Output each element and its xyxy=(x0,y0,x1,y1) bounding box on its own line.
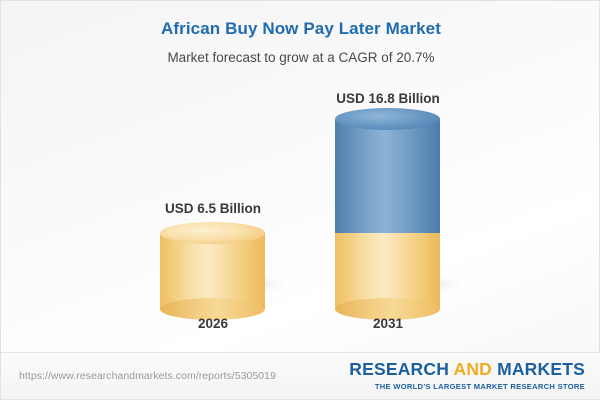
logo-tagline: THE WORLD'S LARGEST MARKET RESEARCH STOR… xyxy=(349,383,585,391)
bar-value-label-2031: USD 16.8 Billion xyxy=(308,91,468,106)
bar-segment-gold-2031 xyxy=(335,233,440,309)
chart-header: African Buy Now Pay Later Market Market … xyxy=(1,19,600,65)
bar-chart: USD 6.5 Billion 2026 USD 16.8 Billion xyxy=(1,83,600,345)
brand-logo[interactable]: RESEARCH AND MARKETS THE WORLD'S LARGEST… xyxy=(349,361,585,390)
source-url[interactable]: https://www.researchandmarkets.com/repor… xyxy=(19,370,276,382)
bar-group-2026: USD 6.5 Billion 2026 xyxy=(133,83,293,345)
cylinder-2031[interactable] xyxy=(335,119,440,309)
bar-group-2031: USD 16.8 Billion 2031 xyxy=(308,83,468,345)
logo-word-research: RESEARCH xyxy=(349,359,453,379)
page-title: African Buy Now Pay Later Market xyxy=(1,19,600,39)
cylinder-2026[interactable] xyxy=(160,233,265,309)
category-label-2031: 2031 xyxy=(308,316,468,331)
segment-cap xyxy=(335,108,440,130)
segment-body xyxy=(335,119,440,233)
bar-segment-gold-2026 xyxy=(160,233,265,309)
logo-word-markets: MARKETS xyxy=(497,359,585,379)
logo-word-and: AND xyxy=(453,359,497,379)
infographic-canvas: African Buy Now Pay Later Market Market … xyxy=(0,0,600,400)
segment-cap xyxy=(160,222,265,244)
bar-value-label-2026: USD 6.5 Billion xyxy=(133,201,293,216)
logo-wordmark: RESEARCH AND MARKETS xyxy=(349,361,585,379)
chart-subtitle: Market forecast to grow at a CAGR of 20.… xyxy=(1,50,600,65)
bar-segment-blue-2031 xyxy=(335,119,440,233)
footer: https://www.researchandmarkets.com/repor… xyxy=(1,352,600,399)
category-label-2026: 2026 xyxy=(133,316,293,331)
